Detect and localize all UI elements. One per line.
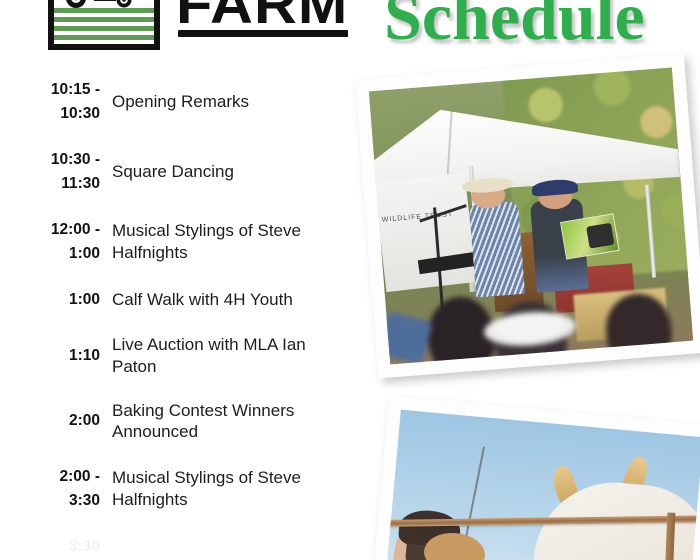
- schedule-row: 10:15 - 10:30 Opening Remarks: [0, 78, 360, 126]
- schedule-row: 1:00 Calf Walk with 4H Youth: [0, 288, 360, 312]
- schedule-event: Musical Stylings of Steve Halfnights: [112, 467, 360, 511]
- schedule-list: 10:15 - 10:30 Opening Remarks 10:30 - 11…: [0, 78, 360, 559]
- schedule-event: Live Auction with MLA Ian Paton: [112, 334, 360, 378]
- photo-cow-fence: [368, 396, 700, 560]
- field-stripes: [54, 8, 154, 44]
- brand-underline: [178, 30, 348, 37]
- schedule-time: 10:15 - 10:30: [0, 78, 112, 126]
- page-title: Schedule: [384, 0, 645, 50]
- schedule-row: 12:00 - 1:00 Musical Stylings of Steve H…: [0, 218, 360, 266]
- schedule-time: 2:00: [0, 409, 112, 433]
- schedule-time: 1:10: [0, 344, 112, 368]
- brand-word: FARM: [176, 0, 348, 32]
- schedule-row: 10:30 - 11:30 Square Dancing: [0, 148, 360, 196]
- schedule-event: Musical Stylings of Steve Halfnights: [112, 220, 360, 264]
- schedule-time: 1:00: [0, 288, 112, 312]
- photo-cow-fence-image: [382, 410, 700, 560]
- schedule-row-partial: 3:30: [0, 535, 360, 559]
- schedule-row: 2:00 Baking Contest Winners Announced: [0, 400, 360, 444]
- farm-schedule-poster: FARM Schedule 10:15 - 10:30 Opening Rema…: [0, 0, 700, 560]
- schedule-event: Baking Contest Winners Announced: [112, 400, 360, 444]
- schedule-event: Calf Walk with 4H Youth: [112, 289, 360, 311]
- schedule-time: 12:00 - 1:00: [0, 218, 112, 266]
- schedule-event: Square Dancing: [112, 161, 360, 183]
- farm-logo-badge: [48, 0, 160, 50]
- schedule-time: 10:30 - 11:30: [0, 148, 112, 196]
- photo-tent-stage-image: WILDLIFE TRUST: [369, 67, 694, 364]
- schedule-time: 3:30: [0, 535, 112, 559]
- schedule-event: Opening Remarks: [112, 91, 360, 113]
- schedule-row: 1:10 Live Auction with MLA Ian Paton: [0, 334, 360, 378]
- schedule-row: 2:00 - 3:30 Musical Stylings of Steve Ha…: [0, 465, 360, 513]
- schedule-time: 2:00 - 3:30: [0, 465, 112, 513]
- photo-tent-stage: WILDLIFE TRUST: [355, 54, 700, 379]
